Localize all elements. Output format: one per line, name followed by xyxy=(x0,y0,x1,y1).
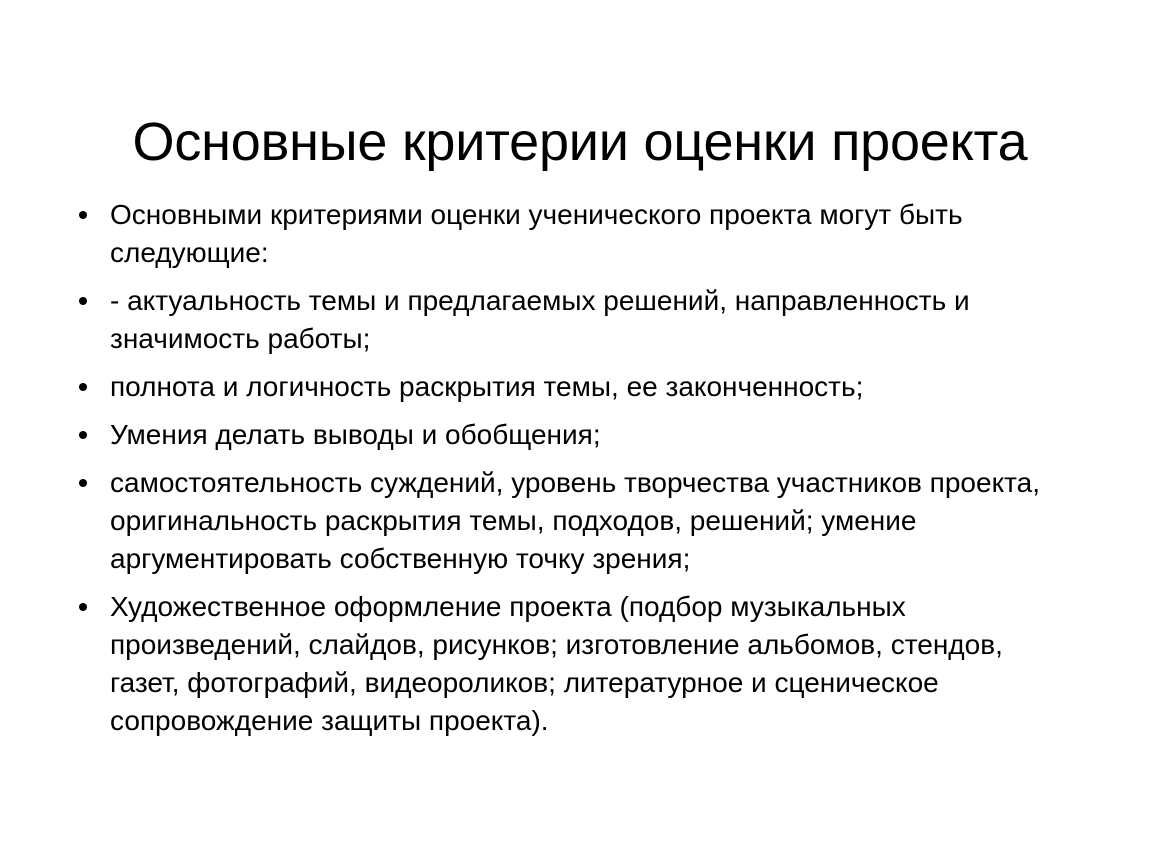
bullet-point-icon xyxy=(73,368,93,406)
bullet-point-icon xyxy=(73,196,93,234)
list-item-text: Основными критериями оценки ученического… xyxy=(110,196,1052,272)
list-item-text: Художественное оформление проекта (подбо… xyxy=(110,588,1052,740)
bullet-point-icon xyxy=(73,416,93,454)
bullet-point-icon xyxy=(73,282,93,320)
list-item: Основными критериями оценки ученического… xyxy=(62,196,1052,272)
presentation-slide: Основные критерии оценки проекта Основны… xyxy=(0,0,1150,864)
list-item: полнота и логичность раскрытия темы, ее … xyxy=(62,368,1052,406)
list-item: Умения делать выводы и обобщения; xyxy=(62,416,1052,454)
list-item-text: Умения делать выводы и обобщения; xyxy=(110,416,1052,454)
list-item: самостоятельность суждений, уровень твор… xyxy=(62,464,1052,578)
page-title: Основные критерии оценки проекта xyxy=(60,106,1100,178)
list-item-text: самостоятельность суждений, уровень твор… xyxy=(110,464,1052,578)
list-item-text: - актуальность темы и предлагаемых решен… xyxy=(110,282,1052,358)
list-item: - актуальность темы и предлагаемых решен… xyxy=(62,282,1052,358)
bullet-point-icon xyxy=(73,464,93,502)
bullet-point-icon xyxy=(73,588,93,626)
bullet-list: Основными критериями оценки ученического… xyxy=(62,196,1052,740)
list-item-text: полнота и логичность раскрытия темы, ее … xyxy=(110,368,1052,406)
list-item: Художественное оформление проекта (подбо… xyxy=(62,588,1052,740)
